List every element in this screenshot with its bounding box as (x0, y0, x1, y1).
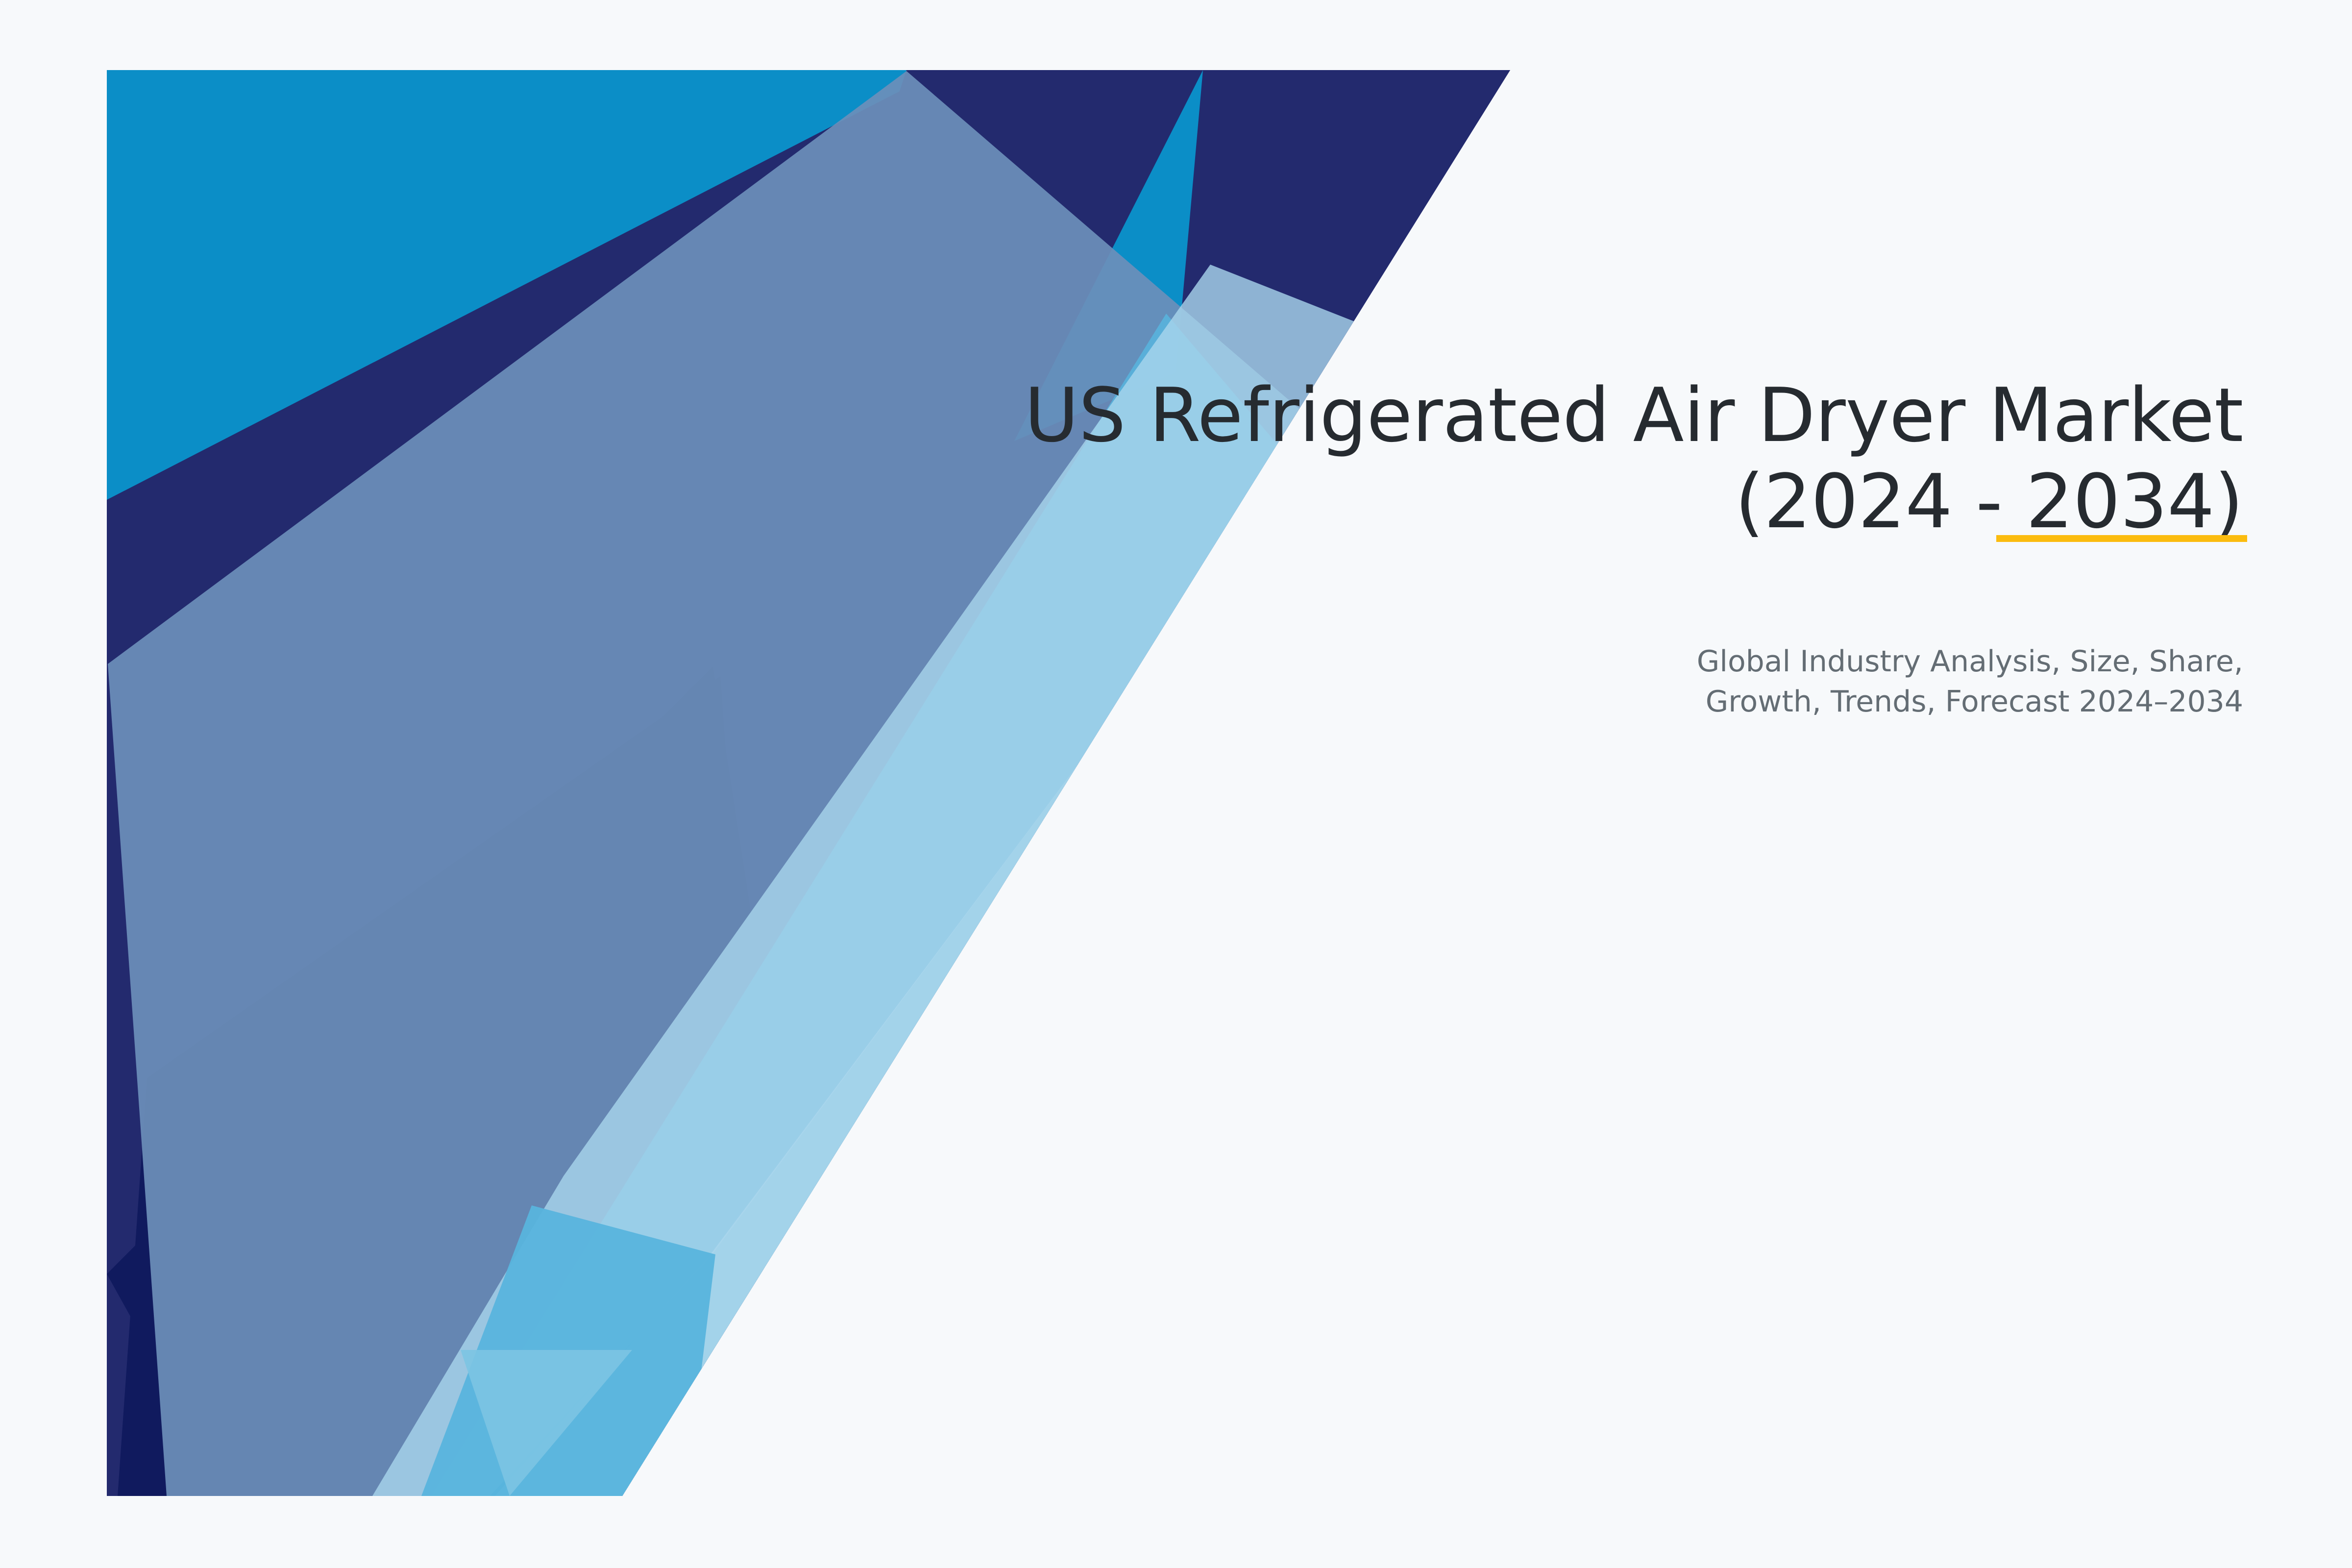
page-subtitle: Global Industry Analysis, Size, Share, G… (822, 641, 2243, 723)
cover-text-block: US Refrigerated Air Dryer Market (2024 -… (822, 372, 2243, 722)
page-title: US Refrigerated Air Dryer Market (2024 -… (822, 372, 2243, 545)
subtitle-line-1: Global Industry Analysis, Size, Share, (822, 641, 2243, 682)
title-line-1: US Refrigerated Air Dryer Market (822, 372, 2243, 459)
subtitle-line-2: Growth, Trends, Forecast 2024–2034 (822, 682, 2243, 722)
title-line-2: (2024 - 2034) (822, 459, 2243, 545)
cover-page: US Refrigerated Air Dryer Market (2024 -… (0, 0, 2352, 1568)
title-accent-bar (1996, 535, 2247, 542)
cover-artwork (0, 0, 2352, 1568)
